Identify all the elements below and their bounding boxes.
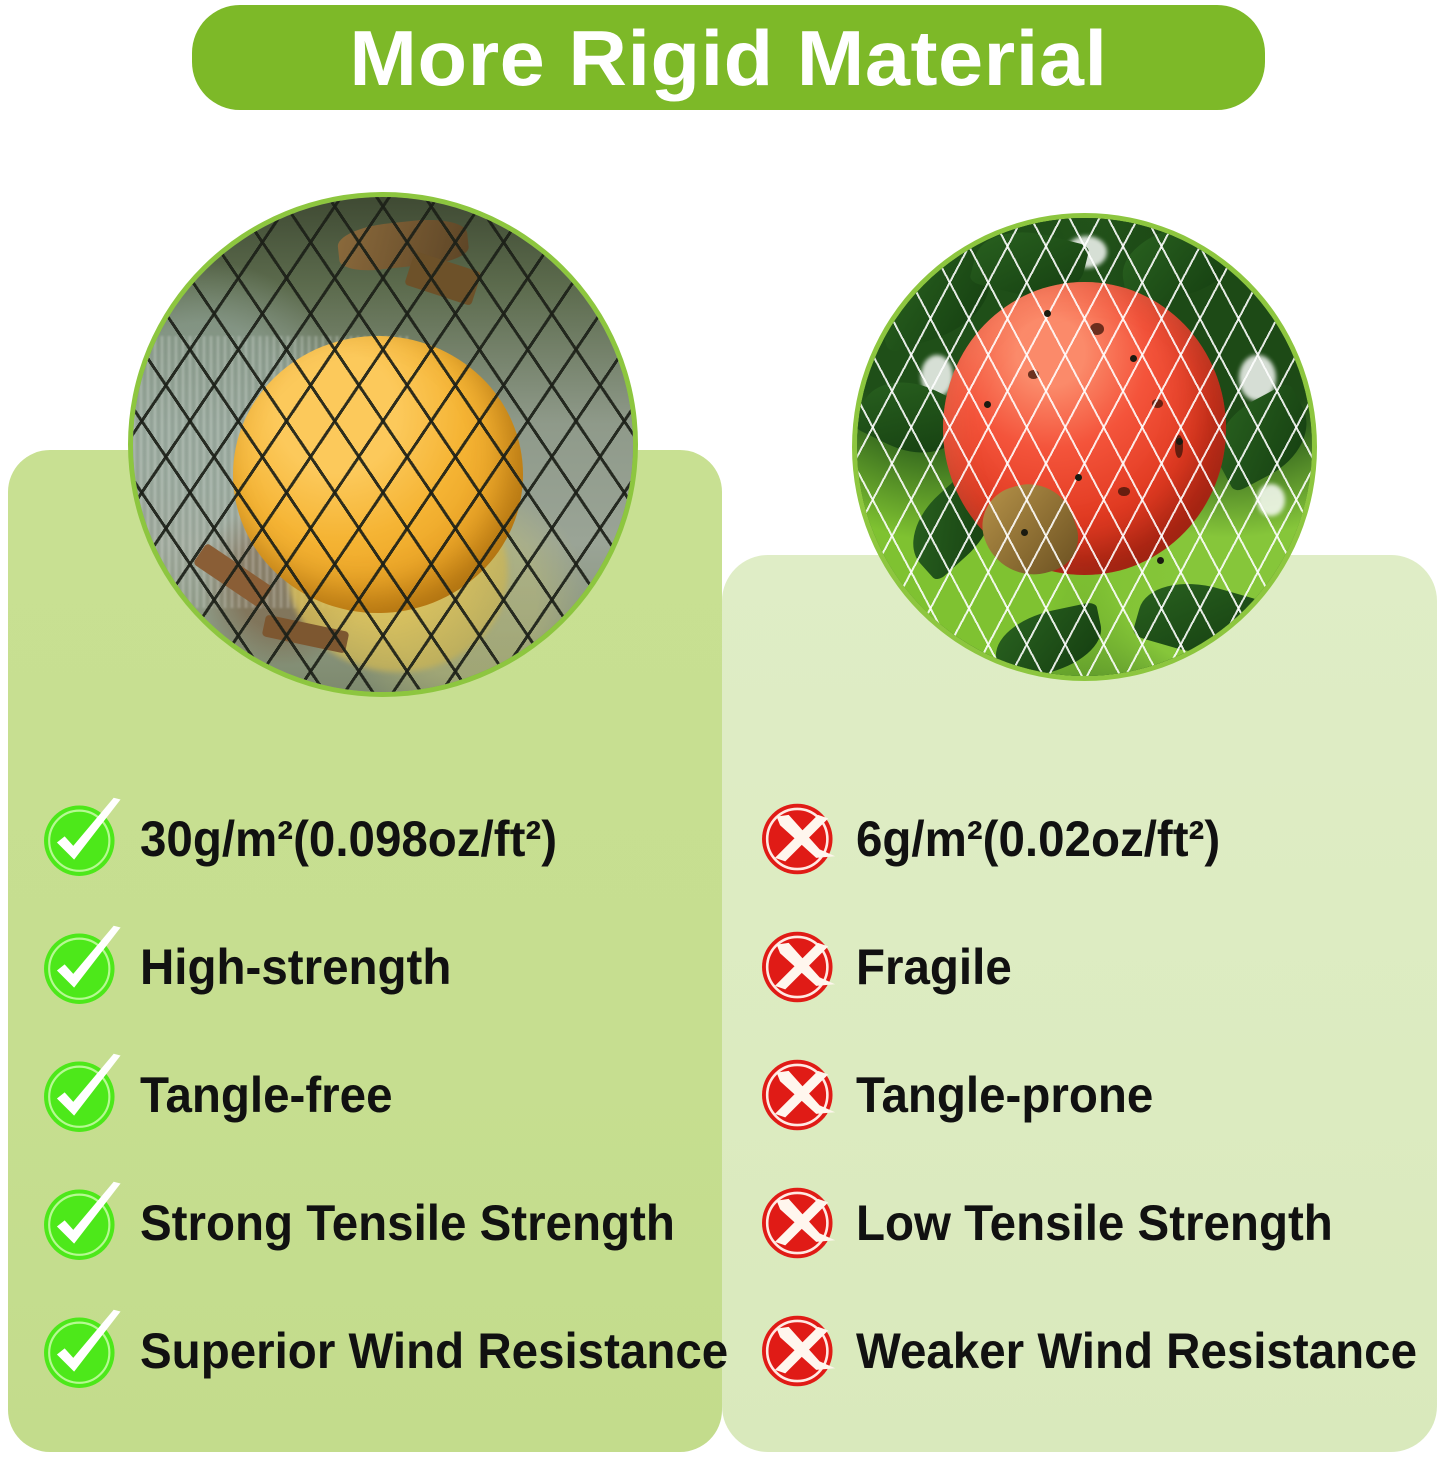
feature-label: Strong Tensile Strength (140, 1198, 675, 1248)
feature-label: Weaker Wind Resistance (856, 1326, 1417, 1376)
feature-row: 30g/m²(0.098oz/ft²) (38, 775, 708, 903)
heavy-duty-net-overlay (128, 192, 638, 697)
feature-list-bad: 6g/m²(0.02oz/ft²) Fragile Tangle-prone (756, 775, 1426, 1415)
check-circle-icon (38, 924, 124, 1010)
feature-row: Tangle-prone (756, 1031, 1426, 1159)
feature-label: Fragile (856, 942, 1012, 992)
x-circle-icon (756, 796, 842, 882)
x-circle-icon (756, 1308, 842, 1394)
feature-label: Superior Wind Resistance (140, 1326, 728, 1376)
feature-label: Tangle-free (140, 1070, 393, 1120)
feature-label: 6g/m²(0.02oz/ft²) (856, 814, 1220, 864)
feature-row: Weaker Wind Resistance (756, 1287, 1426, 1415)
check-circle-icon (38, 796, 124, 882)
feature-label: Tangle-prone (856, 1070, 1153, 1120)
feature-row: High-strength (38, 903, 708, 1031)
pomegranate-with-thin-net-photo (852, 213, 1317, 681)
feature-label: 30g/m²(0.098oz/ft²) (140, 814, 557, 864)
x-circle-icon (756, 1180, 842, 1266)
page-title: More Rigid Material (349, 19, 1107, 97)
check-circle-icon (38, 1180, 124, 1266)
orange-fruit-with-heavy-duty-net-photo (128, 192, 638, 697)
title-banner: More Rigid Material (192, 5, 1265, 110)
feature-row: Fragile (756, 903, 1426, 1031)
check-circle-icon (38, 1052, 124, 1138)
feature-row: Low Tensile Strength (756, 1159, 1426, 1287)
feature-label: High-strength (140, 942, 451, 992)
feature-row: Strong Tensile Strength (38, 1159, 708, 1287)
feature-label: Low Tensile Strength (856, 1198, 1333, 1248)
feature-list-good: 30g/m²(0.098oz/ft²) High-strength Tangle… (38, 775, 708, 1415)
thin-net-overlay (852, 213, 1317, 681)
feature-row: Superior Wind Resistance (38, 1287, 708, 1415)
x-circle-icon (756, 924, 842, 1010)
feature-row: 6g/m²(0.02oz/ft²) (756, 775, 1426, 903)
x-circle-icon (756, 1052, 842, 1138)
check-circle-icon (38, 1308, 124, 1394)
feature-row: Tangle-free (38, 1031, 708, 1159)
